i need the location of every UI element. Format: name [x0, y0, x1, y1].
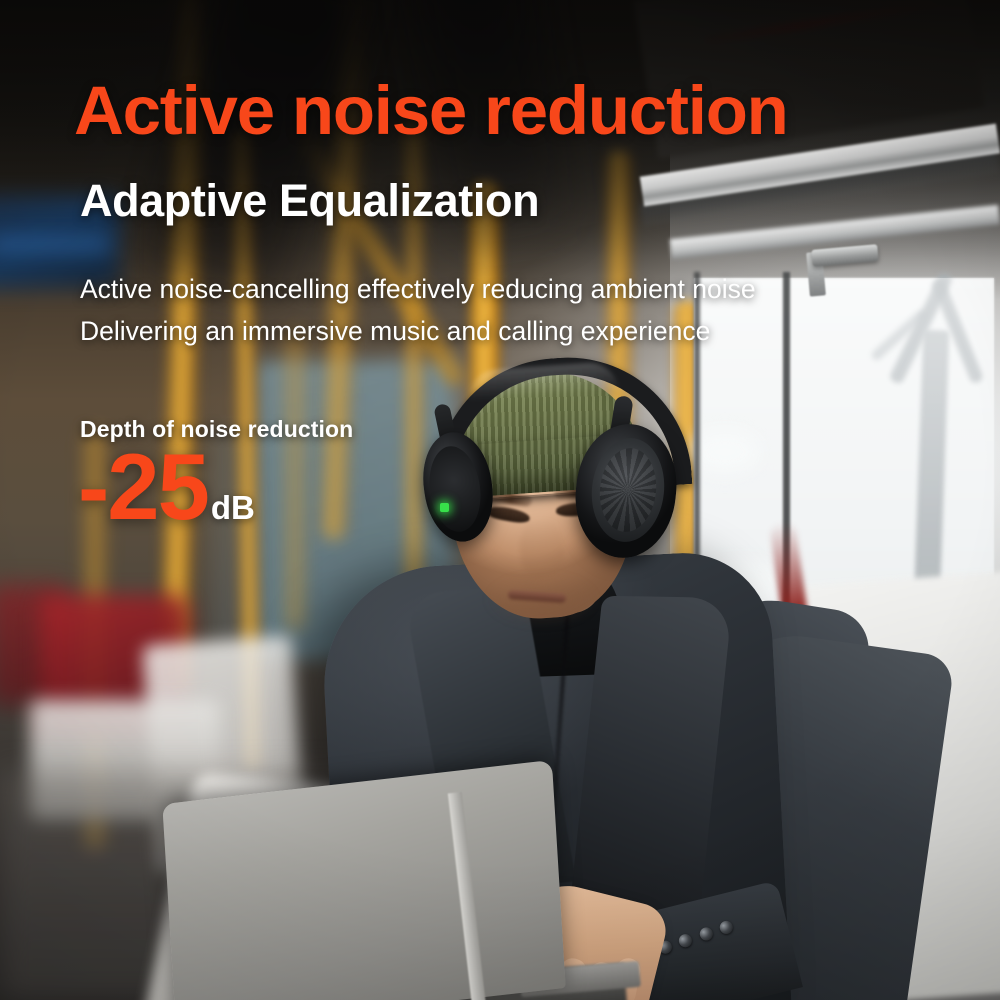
feature-description-list: Active noise-cancelling effectively redu… — [80, 268, 756, 352]
subheadline: Adaptive Equalization — [80, 178, 539, 223]
stat-unit: dB — [211, 489, 255, 527]
product-feature-banner: Active noise reduction Adaptive Equaliza… — [0, 0, 1000, 1000]
feature-line-2: Delivering an immersive music and callin… — [80, 310, 756, 352]
marketing-text-overlay: Active noise reduction Adaptive Equaliza… — [0, 0, 1000, 1000]
feature-line-1: Active noise-cancelling effectively redu… — [80, 268, 756, 310]
stat-number: -25 — [78, 440, 208, 534]
headline: Active noise reduction — [74, 76, 788, 145]
stat-value-group: -25 dB — [78, 440, 255, 534]
